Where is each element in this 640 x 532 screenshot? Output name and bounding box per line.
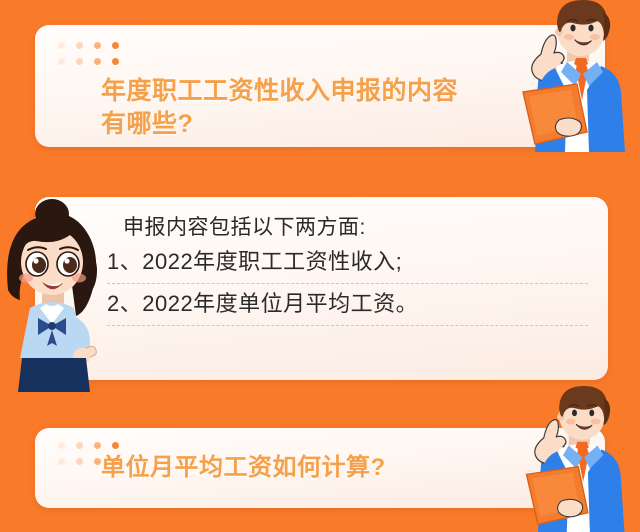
dot [76, 442, 83, 449]
dot [94, 458, 101, 465]
answer-item-1: 1、2022年度职工工资性收入; [107, 242, 590, 283]
decorative-dots-top [58, 42, 122, 68]
question-title-top: 年度职工工资性收入申报的内容 有哪些? [101, 75, 485, 141]
dot [58, 458, 65, 465]
dot [94, 42, 101, 49]
answer-intro: 申报内容包括以下两方面: [107, 211, 590, 242]
man-pointing-icon [505, 0, 640, 152]
answer-body: 申报内容包括以下两方面: 1、2022年度职工工资性收入; 2、2022年度单位… [107, 211, 590, 374]
dot [58, 58, 65, 65]
dot [112, 42, 119, 49]
girl-student-icon [0, 196, 110, 392]
dot [112, 58, 119, 65]
dot [58, 442, 65, 449]
dot [94, 58, 101, 65]
dot [76, 42, 83, 49]
man-pointing-icon [508, 386, 640, 532]
answer-card: 申报内容包括以下两方面: 1、2022年度职工工资性收入; 2、2022年度单位… [35, 197, 608, 380]
question-title-bottom: 单位月平均工资如何计算? [101, 452, 485, 484]
dot [94, 442, 101, 449]
illustration-man-bottom [508, 386, 640, 532]
illustration-girl [0, 196, 110, 392]
dot [112, 442, 119, 449]
illustration-man-top [505, 0, 640, 152]
dot [58, 42, 65, 49]
dot [76, 58, 83, 65]
answer-item-2: 2、2022年度单位月平均工资。 [107, 284, 590, 325]
infographic-canvas: 年度职工工资性收入申报的内容 有哪些? 申报内容包括以下两方面: 1、2022年… [0, 0, 640, 532]
answer-divider-2 [107, 325, 588, 326]
dot [76, 458, 83, 465]
